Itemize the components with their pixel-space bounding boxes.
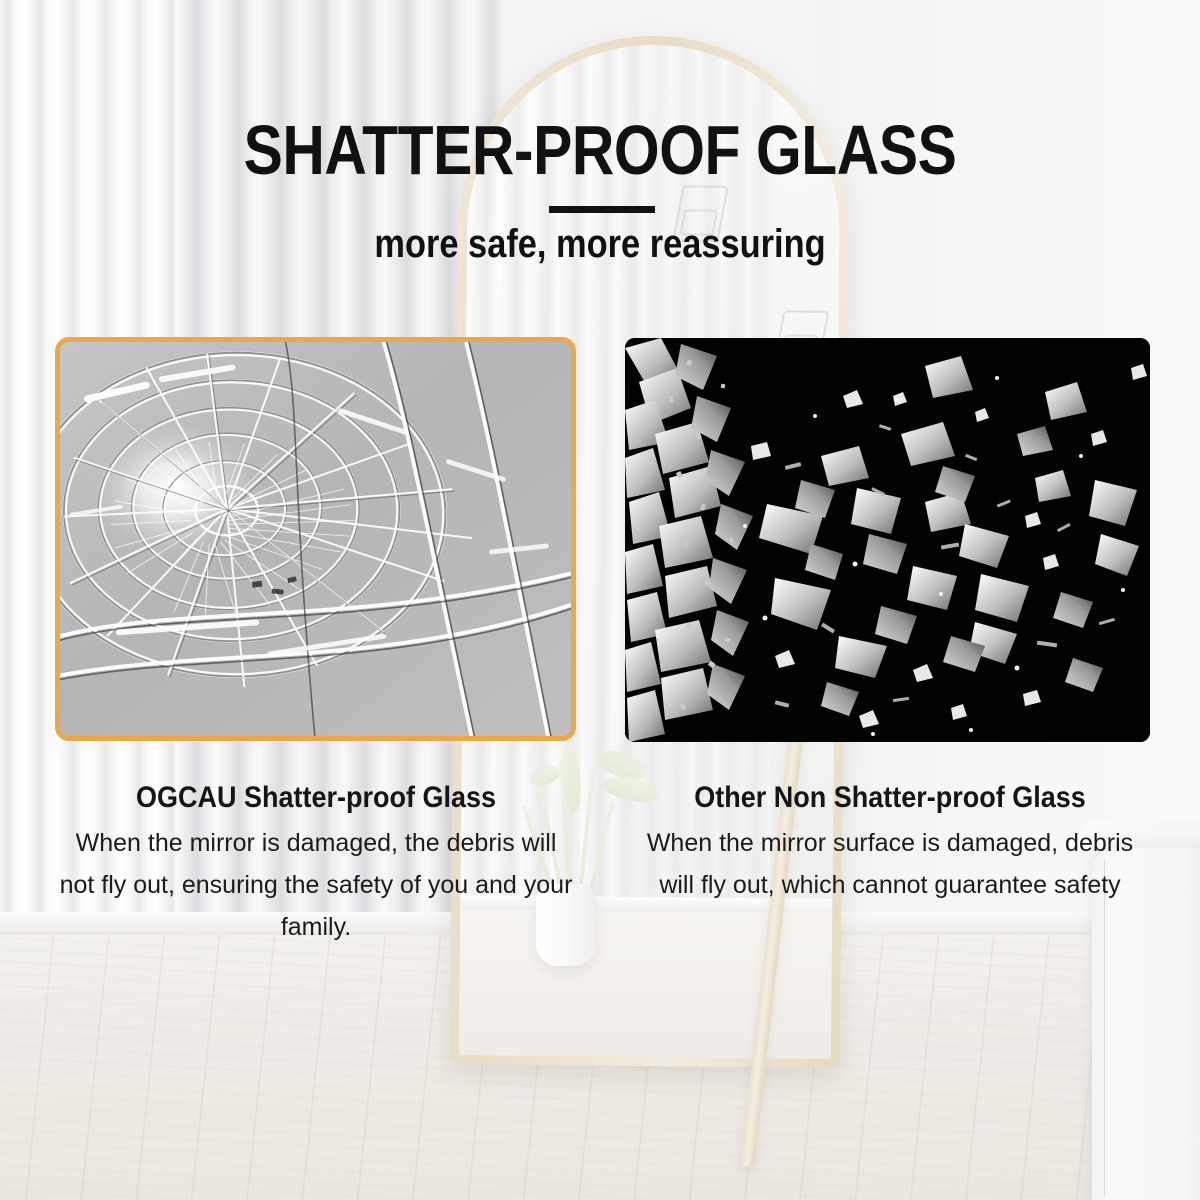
sofa-seam bbox=[1104, 860, 1105, 1196]
good-caption-title: OGCAU Shatter-proof Glass bbox=[64, 780, 568, 816]
page-title: SHATTER-PROOF GLASS bbox=[96, 112, 1104, 188]
cracked-glass-image bbox=[60, 342, 571, 738]
bad-caption-body: When the mirror surface is damaged, debr… bbox=[630, 822, 1150, 906]
title-divider bbox=[549, 206, 655, 213]
good-caption-body: When the mirror is damaged, the debris w… bbox=[56, 822, 576, 948]
bad-caption-title: Other Non Shatter-proof Glass bbox=[638, 780, 1142, 816]
infographic-stage: SHATTER-PROOF GLASS more safe, more reas… bbox=[0, 0, 1200, 1200]
shattered-glass-image bbox=[625, 338, 1150, 742]
shatter-proof-image-panel bbox=[55, 337, 576, 741]
non-shatter-proof-image-panel bbox=[625, 338, 1150, 742]
page-subtitle: more safe, more reassuring bbox=[84, 218, 1116, 270]
